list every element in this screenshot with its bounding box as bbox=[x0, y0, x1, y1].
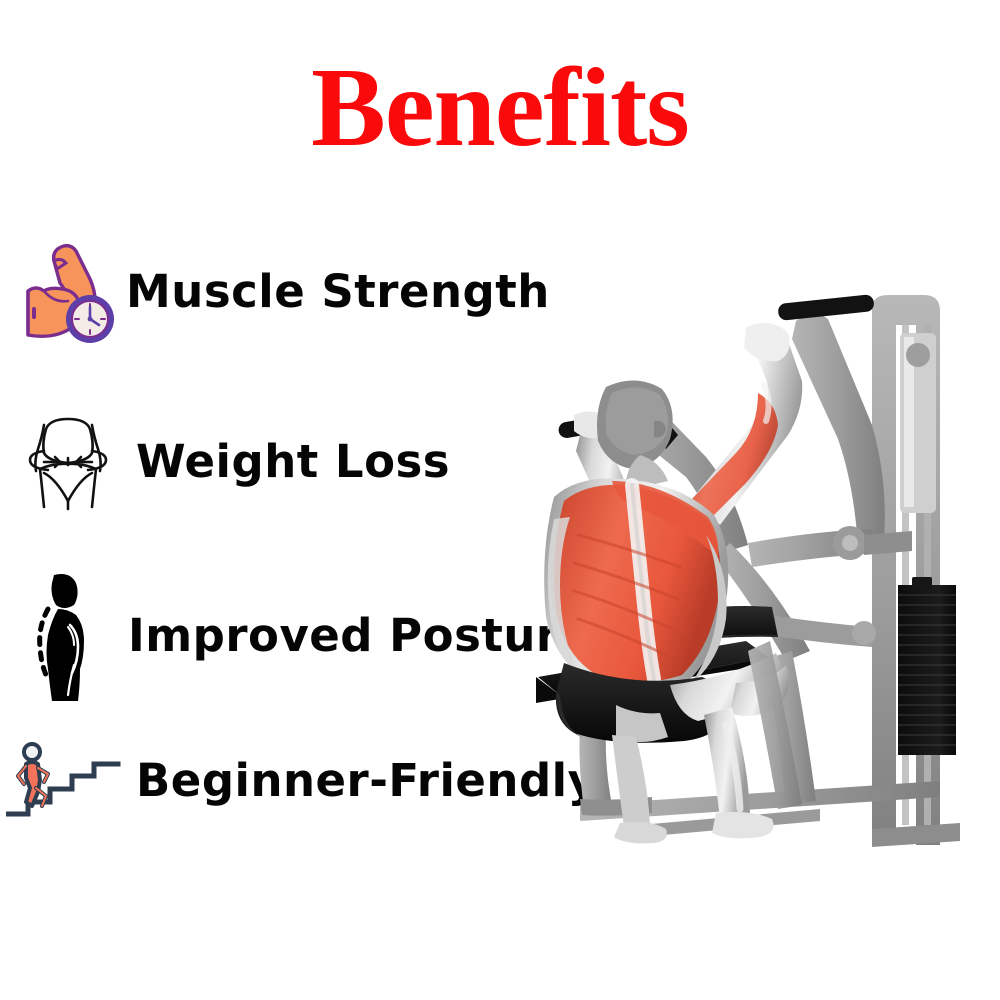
benefit-item-weight-loss: Weight Loss bbox=[14, 405, 450, 517]
exercise-illustration bbox=[520, 285, 1000, 885]
page-title: Benefits bbox=[0, 52, 1000, 164]
benefit-item-muscle-strength: Muscle Strength bbox=[14, 235, 550, 347]
person-climbing-stairs-icon bbox=[6, 740, 132, 820]
flexed-bicep-clock-icon bbox=[14, 235, 126, 347]
benefits-poster: Benefits bbox=[0, 0, 1000, 1000]
benefit-item-improved-posture: Improved Posture bbox=[18, 565, 590, 705]
standing-posture-spine-icon bbox=[18, 565, 118, 705]
weight-stack-tower bbox=[872, 295, 956, 845]
benefit-label-weight-loss: Weight Loss bbox=[136, 435, 450, 488]
benefit-label-muscle-strength: Muscle Strength bbox=[126, 265, 550, 318]
benefit-item-beginner-friendly: Beginner-Friendly bbox=[6, 740, 597, 820]
slim-waist-measure-icon bbox=[14, 405, 122, 517]
